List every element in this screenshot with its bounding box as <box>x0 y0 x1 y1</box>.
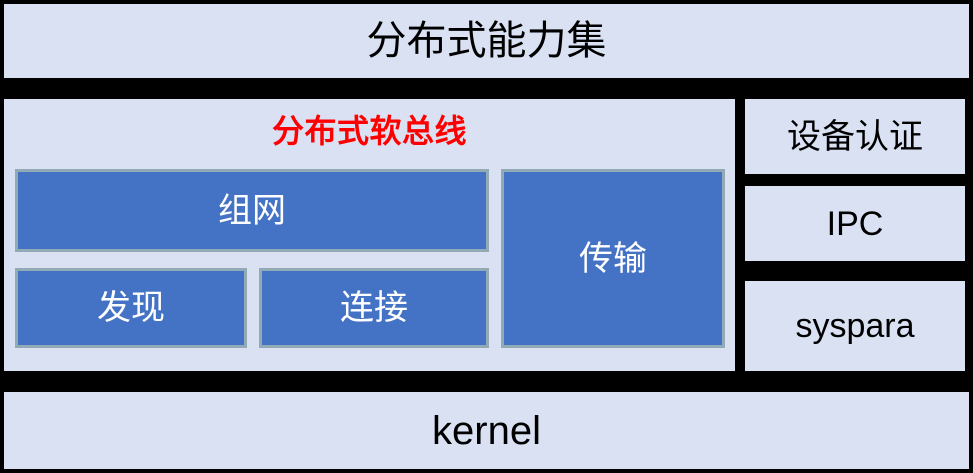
module-box-networking-label: 组网 <box>218 194 286 228</box>
module-box-connection-label: 连接 <box>340 291 408 325</box>
module-box-discovery-label: 发现 <box>97 291 165 325</box>
module-box-discovery: 发现 <box>15 268 247 348</box>
side-item-device-authentication-label: 设备认证 <box>787 120 923 154</box>
module-box-transmission-label: 传输 <box>579 242 647 276</box>
side-item-device-authentication: 设备认证 <box>745 99 965 174</box>
side-item-ipc: IPC <box>745 186 965 261</box>
distributed-soft-bus-panel: 分布式软总线 组网 发现 连接 传输 <box>4 99 735 371</box>
distributed-soft-bus-title: 分布式软总线 <box>4 115 735 147</box>
module-box-transmission: 传输 <box>501 169 725 348</box>
kernel-bar: kernel <box>4 392 969 469</box>
side-item-ipc-label: IPC <box>827 207 884 241</box>
distributed-capability-set-banner: 分布式能力集 <box>4 4 969 78</box>
module-box-networking: 组网 <box>15 169 489 252</box>
module-box-connection: 连接 <box>259 268 489 348</box>
top-banner-label: 分布式能力集 <box>367 21 607 61</box>
side-item-syspara-label: syspara <box>795 309 914 343</box>
kernel-bar-label: kernel <box>432 411 541 451</box>
side-item-syspara: syspara <box>745 281 965 371</box>
diagram-root: 分布式能力集 分布式软总线 组网 发现 连接 传输 设备认证 IPC syspa… <box>0 0 973 473</box>
